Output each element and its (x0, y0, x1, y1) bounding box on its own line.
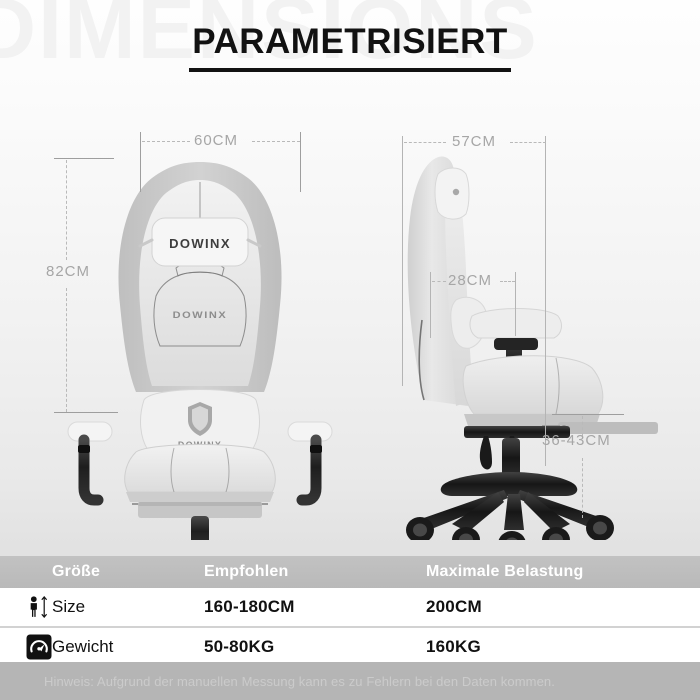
table-header-row: Größe Empfohlen Maximale Belastung (0, 556, 700, 588)
row-recommended: 50-80KG (204, 637, 426, 657)
armrest-tick-right (515, 272, 516, 336)
weight-gauge-icon (26, 634, 52, 660)
armrest-dimension-label: 28CM (448, 272, 492, 289)
width-tick-left (140, 132, 141, 192)
chair-front-illustration: DOWINX DOWINX DOWINX (40, 100, 360, 540)
width-tick-right (300, 132, 301, 192)
width-leader-left (142, 141, 190, 142)
depth-extent-left (402, 136, 403, 386)
seat-height-leader-lower (582, 458, 583, 518)
row-label: Size (52, 597, 204, 617)
chair-side-view: 57CM 28CM 36-43CM (360, 100, 690, 540)
height-leader-upper (66, 160, 67, 260)
svg-text:DOWINX: DOWINX (173, 311, 228, 321)
width-dimension-label: 60CM (194, 132, 238, 149)
row-max-load: 200CM (426, 597, 700, 617)
chair-side-illustration (360, 100, 690, 540)
height-leader-lower (66, 288, 67, 412)
page-title-container: PARAMETRISIERT (0, 24, 700, 72)
row-label: Gewicht (52, 637, 204, 657)
height-tick-top (54, 158, 114, 159)
depth-leader-left (404, 142, 446, 143)
chair-front-view: DOWINX DOWINX DOWINX (40, 100, 360, 540)
armrest-tick-left (430, 272, 431, 338)
product-dimensions-page: DIMENSIONS PARAMETRISIERT (0, 0, 700, 700)
person-height-icon (26, 594, 52, 620)
depth-dimension-label: 57CM (452, 133, 496, 150)
page-title: PARAMETRISIERT (189, 24, 511, 72)
depth-leader-right (510, 142, 546, 143)
seat-height-dimension-label: 36-43CM (542, 432, 611, 449)
header-size: Größe (52, 563, 204, 581)
product-illustration-stage: DOWINX DOWINX DOWINX (0, 100, 700, 540)
footer-note-text: Hinweis: Aufgrund der manuellen Messung … (0, 674, 555, 689)
depth-extent-right (545, 136, 546, 466)
row-recommended: 160-180CM (204, 597, 426, 617)
height-dimension-label: 82CM (46, 263, 90, 280)
armrest-leader-left (432, 281, 446, 282)
svg-text:DOWINX: DOWINX (169, 236, 231, 251)
table-row: Size 160-180CM 200CM (0, 588, 700, 628)
row-icon-cell (0, 594, 52, 620)
seat-height-tick-top (552, 414, 624, 415)
row-icon-cell (0, 634, 52, 660)
height-tick-bottom (54, 412, 118, 413)
header-recommended: Empfohlen (204, 563, 426, 581)
specification-table: Größe Empfohlen Maximale Belastung Size … (0, 556, 700, 668)
header-max-load: Maximale Belastung (426, 563, 700, 581)
width-leader-right (252, 141, 300, 142)
armrest-leader-right (500, 281, 515, 282)
row-max-load: 160KG (426, 637, 700, 657)
footer-note-bar: Hinweis: Aufgrund der manuellen Messung … (0, 662, 700, 700)
